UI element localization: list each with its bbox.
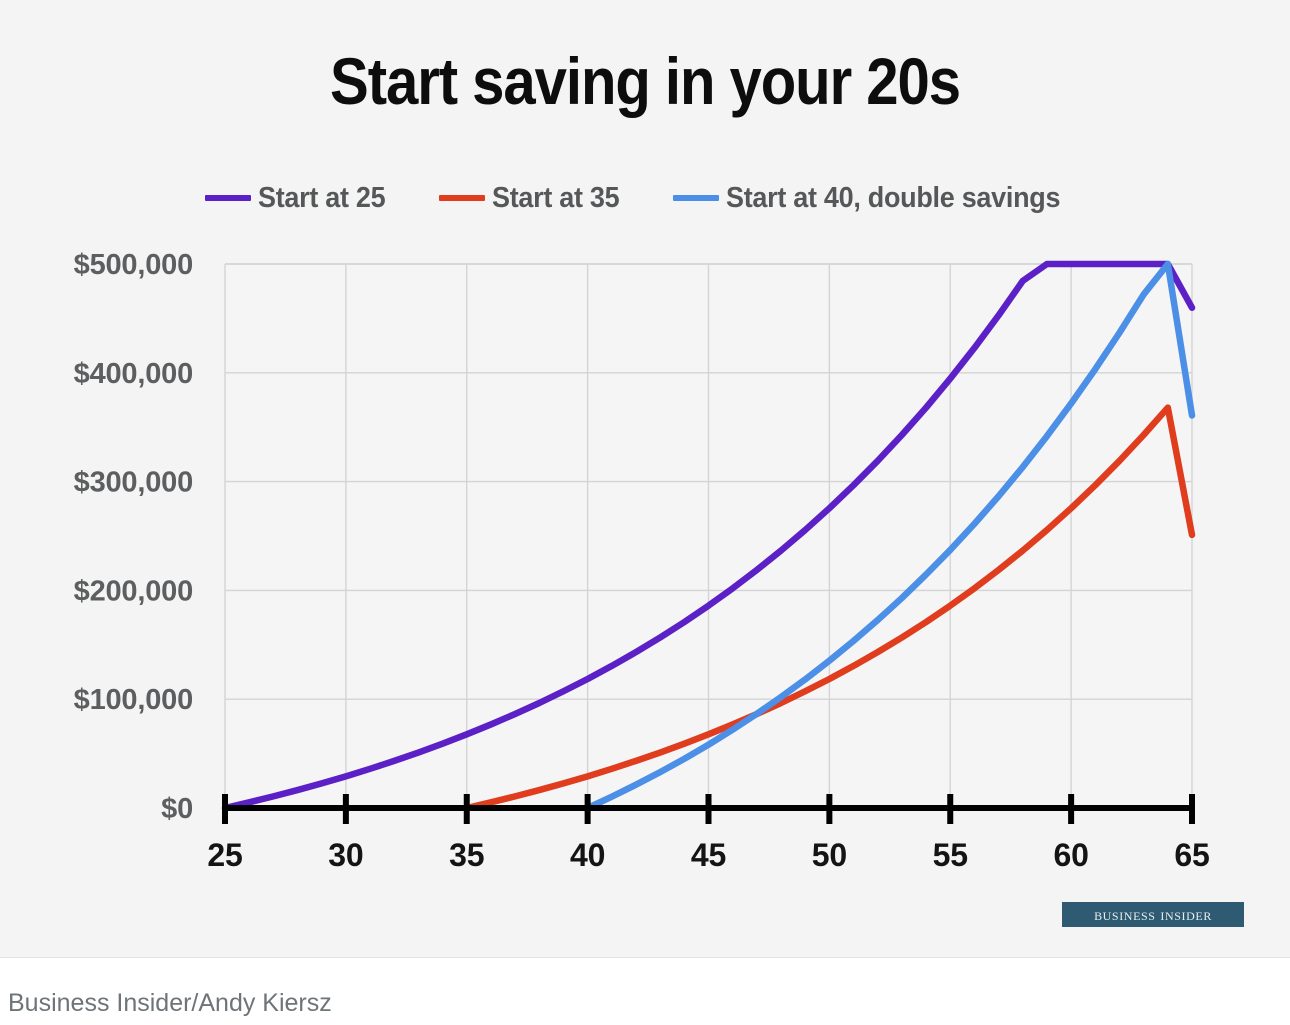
legend-item[interactable]: Start at 40, double savings bbox=[673, 182, 1085, 214]
y-axis-tick-label: $500,000 bbox=[74, 249, 193, 281]
page-title: Start saving in your 20s bbox=[77, 44, 1212, 118]
legend-item[interactable]: Start at 35 bbox=[439, 182, 629, 214]
legend-item-label: Start at 35 bbox=[492, 182, 619, 214]
y-axis-tick-label: $100,000 bbox=[74, 684, 193, 716]
y-axis-tick-label: $200,000 bbox=[74, 575, 193, 607]
x-axis-tick-label: 30 bbox=[328, 837, 363, 873]
chart-legend: Start at 25Start at 35Start at 40, doubl… bbox=[0, 182, 1290, 214]
x-axis-tick-label: 40 bbox=[570, 837, 605, 873]
legend-line-icon bbox=[439, 195, 485, 201]
x-axis-tick-label: 45 bbox=[691, 837, 726, 873]
legend-item[interactable]: Start at 25 bbox=[205, 182, 395, 214]
chart-page: Start saving in your 20s Start at 25Star… bbox=[0, 0, 1290, 1025]
x-axis-tick-label: 60 bbox=[1054, 837, 1089, 873]
plot-area: $0$100,000$200,000$300,000$400,000$500,0… bbox=[0, 236, 1290, 876]
legend-line-icon bbox=[673, 195, 719, 201]
x-axis-tick-label: 55 bbox=[933, 837, 968, 873]
y-axis-tick-label: $400,000 bbox=[74, 358, 193, 390]
x-axis-tick-label: 25 bbox=[207, 837, 242, 873]
legend-item-label: Start at 40, double savings bbox=[726, 182, 1060, 214]
logo-text: Business Insider bbox=[1094, 905, 1212, 925]
legend-item-label: Start at 25 bbox=[258, 182, 385, 214]
y-axis-tick-label: $0 bbox=[161, 793, 193, 825]
x-axis-tick-label: 65 bbox=[1174, 837, 1209, 873]
x-axis-tick-label: 50 bbox=[812, 837, 847, 873]
business-insider-logo: Business Insider bbox=[1062, 902, 1244, 927]
y-axis-tick-label: $300,000 bbox=[74, 467, 193, 499]
x-axis-tick-label: 35 bbox=[449, 837, 484, 873]
legend-line-icon bbox=[205, 195, 251, 201]
source-caption: Business Insider/Andy Kiersz bbox=[8, 988, 332, 1018]
line-chart-svg: $0$100,000$200,000$300,000$400,000$500,0… bbox=[0, 236, 1290, 876]
